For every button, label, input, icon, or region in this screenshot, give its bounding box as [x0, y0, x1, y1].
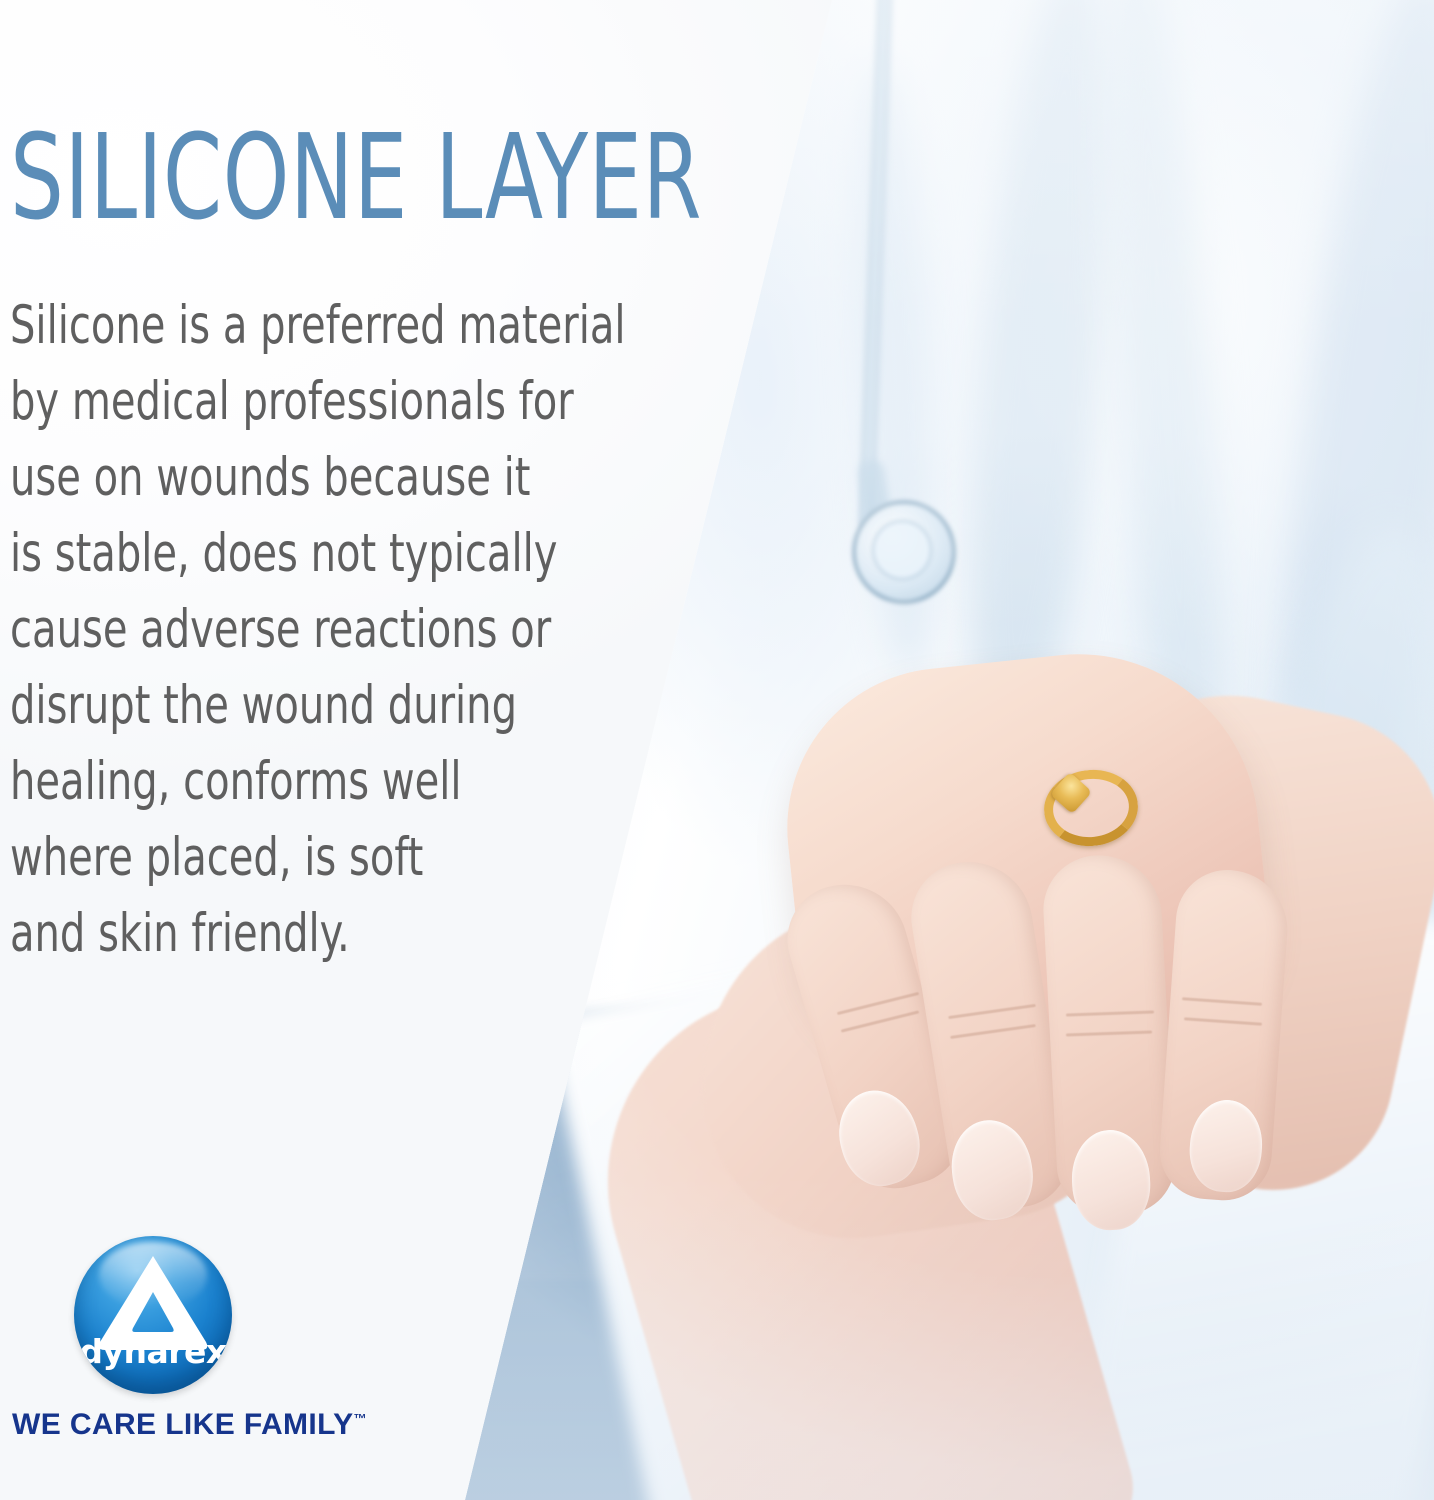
- body-line: healing, conforms well: [10, 744, 707, 820]
- body-copy: Silicone is a preferred material by medi…: [10, 288, 707, 972]
- body-line: is stable, does not typically: [10, 516, 707, 592]
- body-line: by medical professionals for: [10, 364, 707, 440]
- product-feature-banner: SILICONE LAYER Silicone is a preferred m…: [0, 0, 1434, 1500]
- stethoscope-diaphragm: [872, 520, 932, 580]
- dynarex-wordmark: dynarex: [74, 1332, 232, 1371]
- body-line: cause adverse reactions or: [10, 592, 707, 668]
- trademark-symbol: ™: [354, 1411, 367, 1426]
- brand-logo: dynarex WE CARE LIKE FAMILY™: [12, 1236, 342, 1442]
- body-line: where placed, is soft: [10, 820, 707, 896]
- body-line: disrupt the wound during: [10, 668, 707, 744]
- brand-tagline-text: WE CARE LIKE FAMILY: [12, 1408, 354, 1441]
- body-line: use on wounds because it: [10, 440, 707, 516]
- dynarex-logo-sphere: dynarex: [74, 1236, 232, 1394]
- page-title: SILICONE LAYER: [10, 118, 570, 236]
- brand-tagline: WE CARE LIKE FAMILY™: [12, 1408, 342, 1442]
- body-line: Silicone is a preferred material: [10, 288, 707, 364]
